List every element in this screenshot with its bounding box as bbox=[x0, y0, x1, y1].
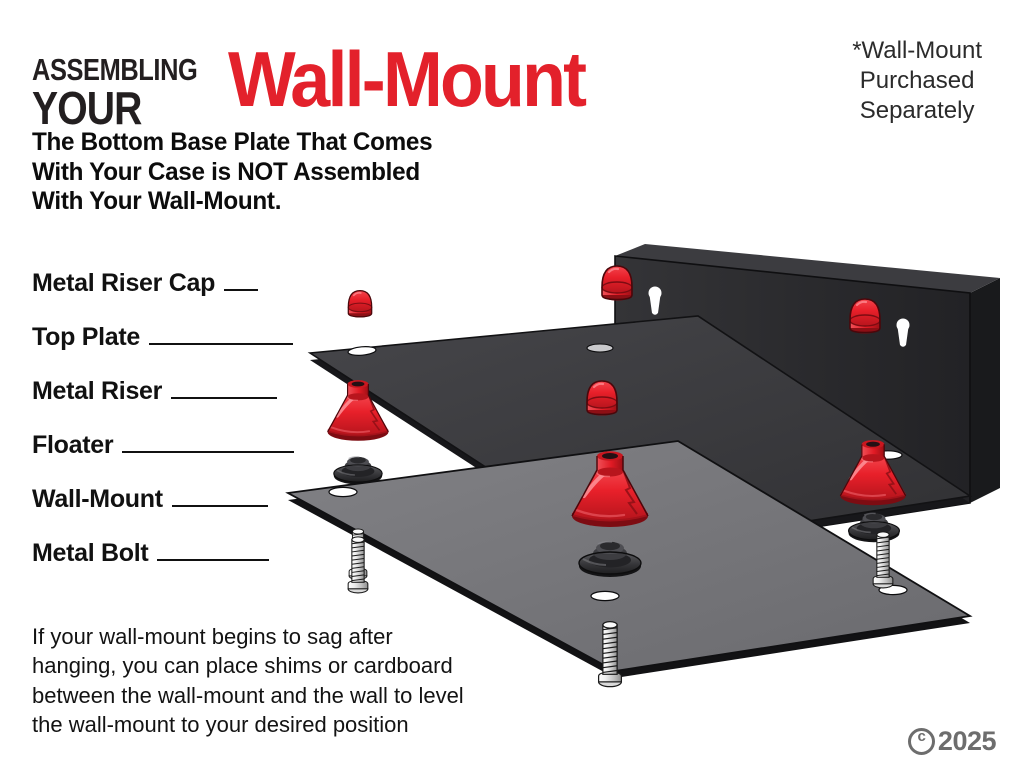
label-row-wall-mount: Wall-Mount bbox=[32, 484, 268, 514]
subtitle-text: The Bottom Base Plate That Comes With Yo… bbox=[32, 128, 432, 217]
metal-riser-cap-top-plate-center bbox=[587, 381, 617, 416]
copyright-icon bbox=[908, 728, 935, 755]
leader-line-metal-riser-cap bbox=[224, 289, 258, 291]
label-row-metal-riser: Metal Riser bbox=[32, 376, 277, 406]
label-row-metal-riser-cap: Metal Riser Cap bbox=[32, 268, 258, 298]
metal-riser-cap-bracket-right bbox=[850, 299, 880, 334]
poster-root: ASSEMBLING YOUR Wall-Mount The Bottom Ba… bbox=[0, 0, 1024, 779]
title-block: ASSEMBLING YOUR Wall-Mount bbox=[32, 28, 732, 138]
label-text-metal-bolt: Metal Bolt bbox=[32, 539, 148, 568]
label-row-top-plate: Top Plate bbox=[32, 322, 293, 352]
leader-line-wall-mount bbox=[172, 505, 268, 507]
metal-riser-cap-sample bbox=[348, 291, 371, 318]
label-text-wall-mount: Wall-Mount bbox=[32, 485, 163, 514]
label-row-floater: Floater bbox=[32, 430, 294, 460]
metal-bolt-left bbox=[348, 537, 368, 593]
title-stack-left: ASSEMBLING YOUR bbox=[32, 54, 232, 131]
label-text-top-plate: Top Plate bbox=[32, 323, 140, 352]
label-text-metal-riser: Metal Riser bbox=[32, 377, 162, 406]
leader-line-metal-bolt bbox=[157, 559, 269, 561]
sag-instruction-note: If your wall-mount begins to sag after h… bbox=[32, 622, 592, 739]
copyright-year: 2025 bbox=[938, 726, 996, 757]
leader-line-floater bbox=[122, 451, 294, 453]
label-text-floater: Floater bbox=[32, 431, 113, 460]
title-your: YOUR bbox=[32, 85, 202, 131]
metal-riser-cap-bracket-left bbox=[602, 266, 632, 301]
leader-line-metal-riser bbox=[171, 397, 277, 399]
copyright-notice: 2025 bbox=[908, 726, 996, 757]
purchased-separately-note: *Wall-Mount Purchased Separately bbox=[852, 36, 982, 126]
title-wall-mount: Wall-Mount bbox=[228, 42, 584, 116]
label-row-metal-bolt: Metal Bolt bbox=[32, 538, 269, 568]
label-text-metal-riser-cap: Metal Riser Cap bbox=[32, 269, 215, 298]
floater-sample-left bbox=[334, 457, 382, 484]
title-assembling: ASSEMBLING bbox=[32, 54, 196, 85]
